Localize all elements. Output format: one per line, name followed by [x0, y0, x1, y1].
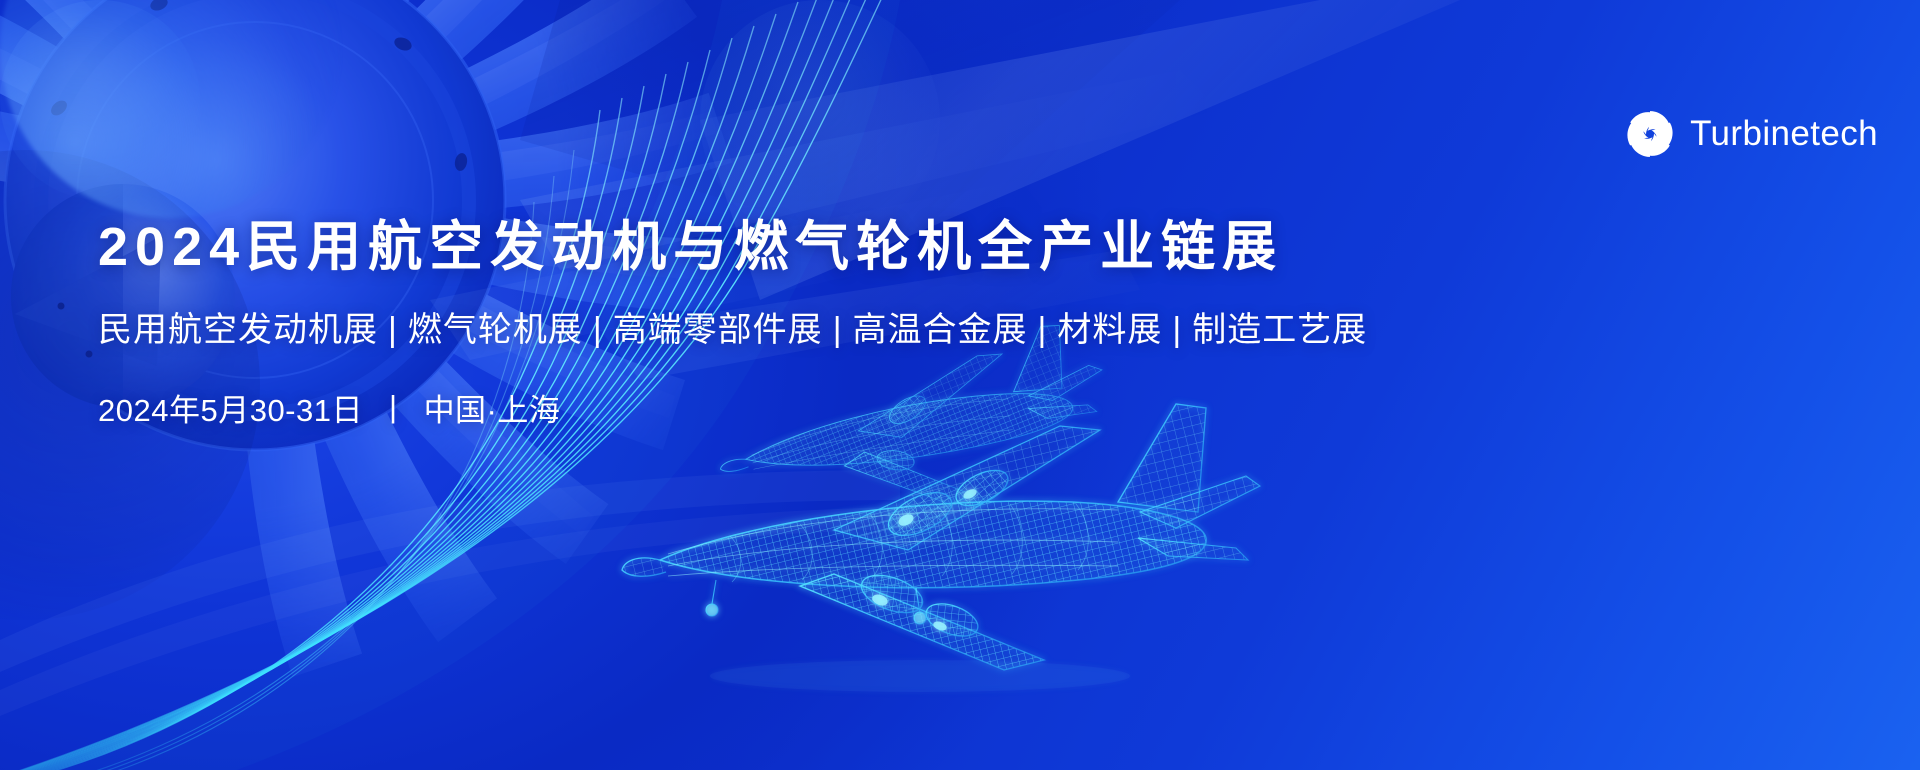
subline-item-0: 民用航空发动机展 — [98, 311, 378, 349]
glow-circle-bottom-center — [700, 0, 940, 240]
brand-logo[interactable]: Turbinetech — [1624, 108, 1878, 160]
banner-content: 2024民用航空发动机与燃气轮机全产业链展 民用航空发动机展|燃气轮机展|高端零… — [98, 216, 1367, 430]
turbine-swirl-logo-icon — [1624, 108, 1676, 160]
subline-item-2: 高端零部件展 — [613, 311, 823, 349]
subline-separator: | — [1028, 311, 1058, 349]
subline-item-4: 材料展 — [1057, 311, 1162, 349]
event-headline: 2024民用航空发动机与燃气轮机全产业链展 — [98, 216, 1367, 280]
event-meta: 2024年5月30-31日 | 中国·上海 — [98, 385, 1367, 430]
subline-item-1: 燃气轮机展 — [408, 311, 583, 349]
brand-name: Turbinetech — [1690, 114, 1878, 154]
event-banner: Turbinetech 2024民用航空发动机与燃气轮机全产业链展 民用航空发动… — [0, 0, 1920, 770]
subline-item-3: 高温合金展 — [853, 311, 1028, 349]
glow-sphere-top-right — [0, 0, 340, 218]
subline-separator: | — [583, 311, 613, 349]
event-location: 中国·上海 — [424, 385, 561, 430]
subline-item-5: 制造工艺展 — [1192, 311, 1367, 349]
meta-divider: | — [363, 389, 424, 425]
glow-circle-bottom-right — [0, 0, 200, 200]
event-subline: 民用航空发动机展|燃气轮机展|高端零部件展|高温合金展|材料展|制造工艺展 — [98, 302, 1367, 351]
subline-separator: | — [823, 311, 853, 349]
subline-separator: | — [378, 311, 408, 349]
subline-separator: | — [1162, 311, 1192, 349]
event-date: 2024年5月30-31日 — [98, 385, 363, 430]
